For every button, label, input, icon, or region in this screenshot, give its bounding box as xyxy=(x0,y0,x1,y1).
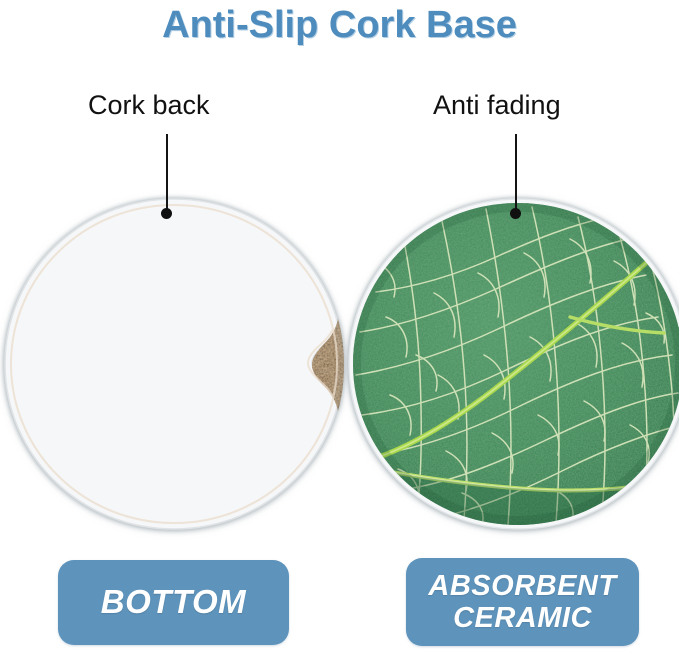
callout-label-anti-fading: Anti fading xyxy=(433,90,561,121)
callout-label-cork-back: Cork back xyxy=(88,90,210,121)
badge-line-1: ABSORBENT xyxy=(428,570,616,602)
badge-absorbent-ceramic: ABSORBENT CERAMIC xyxy=(406,558,639,646)
leaf-coaster-halo xyxy=(346,197,679,533)
callout-dot-anti-fading xyxy=(510,208,521,219)
callout-leader-line-anti-fading xyxy=(515,134,517,213)
cork-coaster-rim xyxy=(5,199,343,529)
badge-bottom: BOTTOM xyxy=(58,560,289,645)
badge-bottom-label: BOTTOM xyxy=(101,584,246,621)
leaf-coaster-image xyxy=(346,197,679,533)
cork-coaster xyxy=(2,197,346,533)
product-feature-image: Anti-Slip Cork Base xyxy=(0,0,679,649)
cork-coaster-halo xyxy=(2,197,346,533)
badge-line-2: CERAMIC xyxy=(453,602,592,634)
leaf-surface xyxy=(346,197,679,533)
leaf-coaster xyxy=(346,197,679,533)
callout-dot-cork-back xyxy=(161,208,172,219)
badge-absorbent-ceramic-label: ABSORBENT CERAMIC xyxy=(428,570,616,635)
callout-leader-line-cork-back xyxy=(166,134,168,213)
cork-coaster-image xyxy=(2,197,346,533)
page-title: Anti-Slip Cork Base xyxy=(0,4,679,47)
